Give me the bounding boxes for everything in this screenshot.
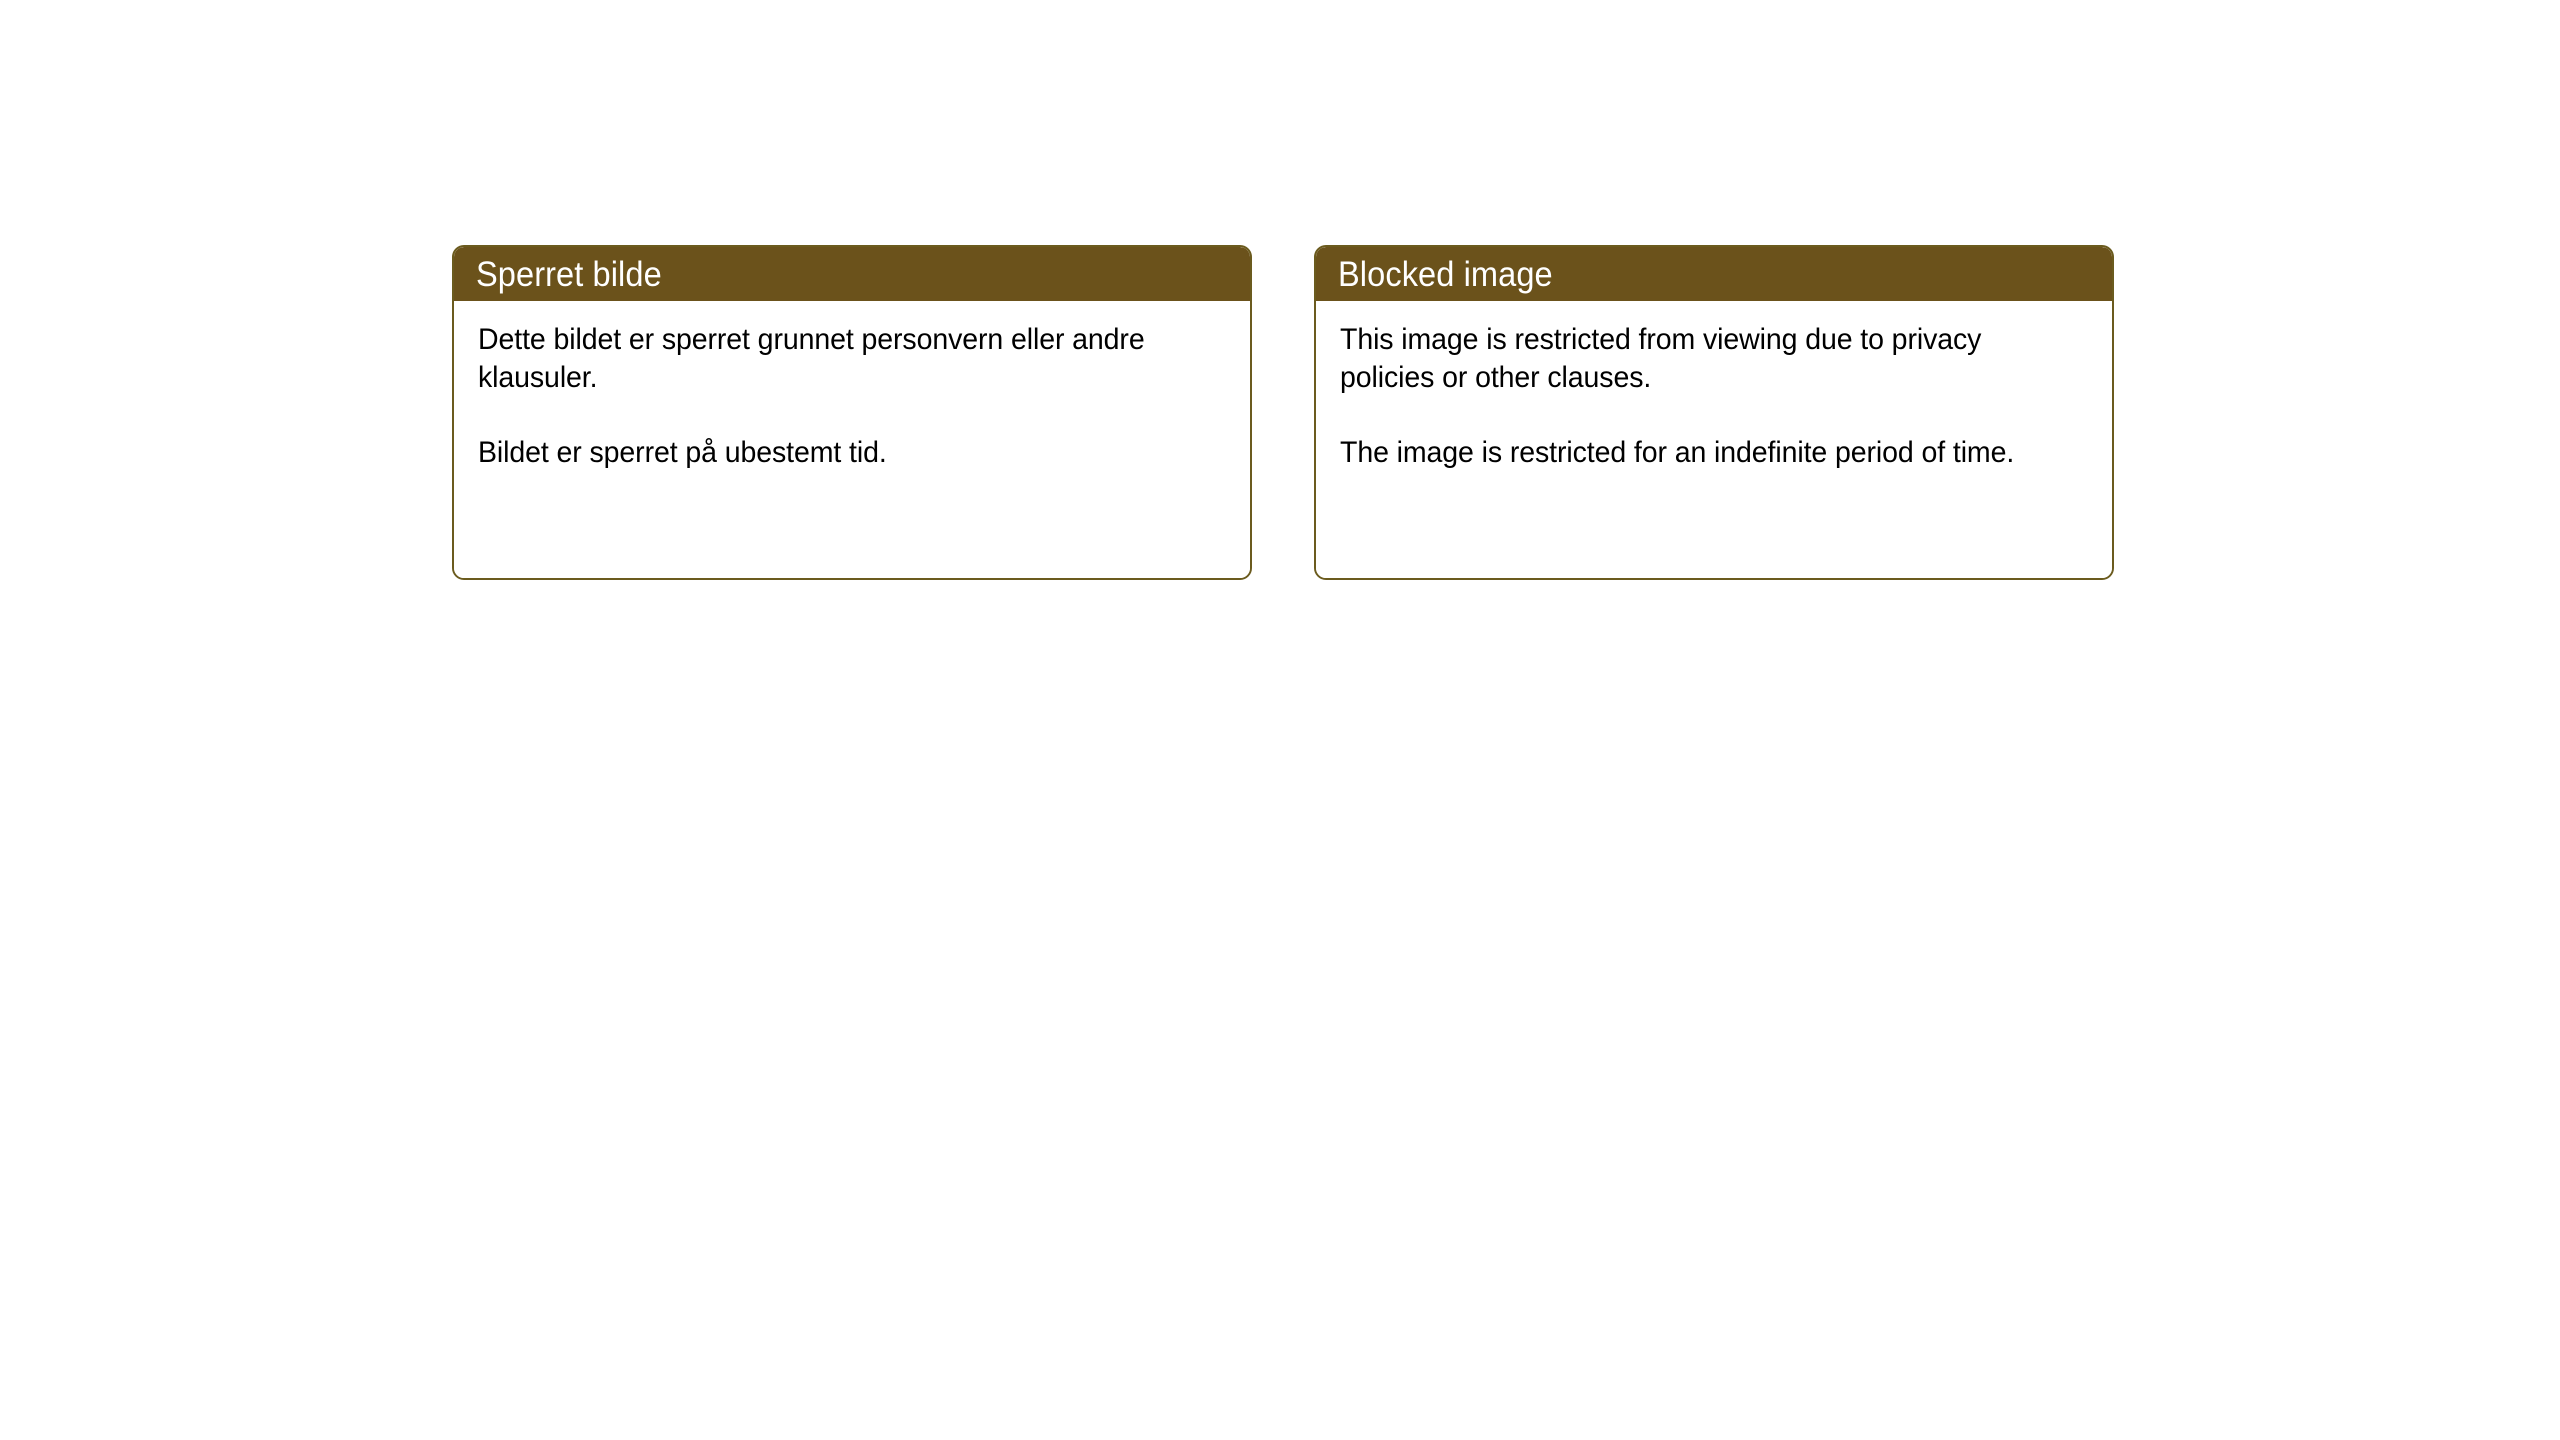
blocked-image-card-norwegian: Sperret bilde Dette bildet er sperret gr… (452, 245, 1252, 580)
card-title-english: Blocked image (1338, 257, 1553, 292)
card-paragraph-primary-norwegian: Dette bildet er sperret grunnet personve… (478, 321, 1187, 398)
card-paragraph-primary-english: This image is restricted from viewing du… (1340, 321, 2049, 398)
card-body-english: This image is restricted from viewing du… (1316, 301, 2112, 578)
blocked-image-notice-group: Sperret bilde Dette bildet er sperret gr… (452, 245, 2114, 580)
card-body-norwegian: Dette bildet er sperret grunnet personve… (454, 301, 1250, 578)
card-header-norwegian: Sperret bilde (454, 247, 1250, 301)
blocked-image-card-english: Blocked image This image is restricted f… (1314, 245, 2114, 580)
card-paragraph-secondary-english: The image is restricted for an indefinit… (1340, 434, 2049, 472)
card-title-norwegian: Sperret bilde (476, 257, 662, 292)
card-paragraph-secondary-norwegian: Bildet er sperret på ubestemt tid. (478, 434, 1187, 472)
card-header-english: Blocked image (1316, 247, 2112, 301)
